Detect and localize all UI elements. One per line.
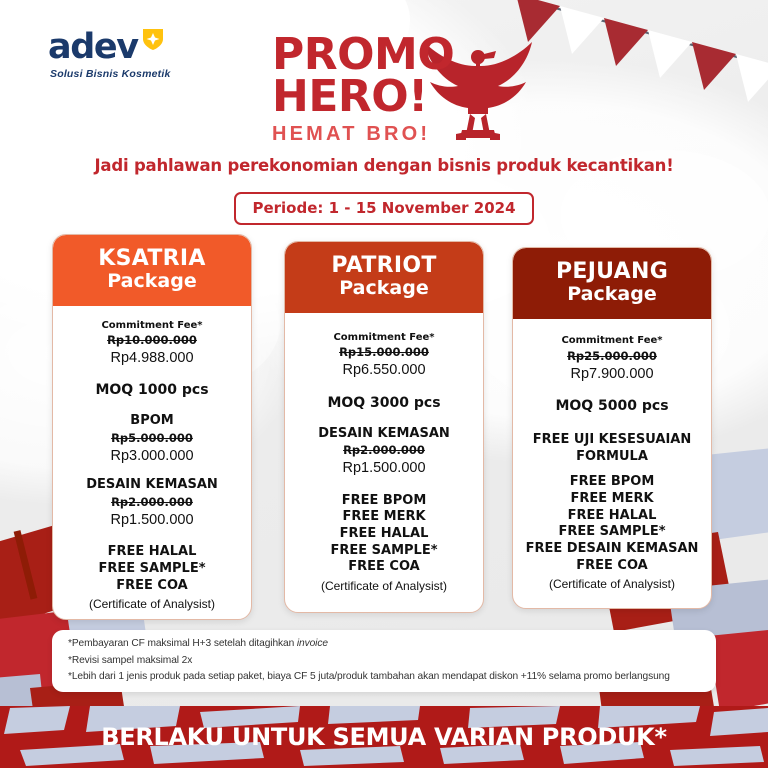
package-name: PEJUANG bbox=[521, 260, 703, 284]
free-headline-list: FREE UJI KESESUAIANFORMULA bbox=[533, 432, 692, 465]
moq-value: MOQ 5000 pcs bbox=[555, 398, 668, 414]
footnote-line: *Pembayaran CF maksimal H+3 setelah dita… bbox=[68, 636, 700, 653]
package-card-body: Commitment Fee*Rp10.000.000Rp4.988.000MO… bbox=[53, 306, 251, 620]
free-item: FREE COA bbox=[98, 578, 205, 595]
footnote-line: *Revisi sampel maksimal 2x bbox=[68, 653, 700, 670]
package-card-patriot: PATRIOTPackageCommitment Fee*Rp15.000.00… bbox=[284, 241, 484, 613]
package-item-old-price: Rp5.000.000 bbox=[63, 430, 241, 446]
free-item: FREE COA bbox=[330, 559, 437, 576]
commitment-fee-block: Commitment Fee*Rp10.000.000Rp4.988.000 bbox=[63, 319, 241, 369]
commitment-fee-label: Commitment Fee* bbox=[63, 319, 241, 333]
coa-note: (Certificate of Analysist) bbox=[321, 577, 447, 595]
free-items-list: FREE HALALFREE SAMPLE*FREE COA bbox=[98, 544, 205, 594]
package-word: Package bbox=[293, 278, 475, 300]
free-item: FREE SAMPLE* bbox=[98, 561, 205, 578]
package-word: Package bbox=[61, 271, 243, 293]
commitment-fee-old-price: Rp10.000.000 bbox=[63, 332, 241, 348]
commitment-fee-new-price: Rp7.900.000 bbox=[523, 364, 701, 384]
free-item: FREE BPOM bbox=[526, 474, 699, 491]
package-item-old-price: Rp2.000.000 bbox=[295, 442, 473, 458]
free-item: FREE SAMPLE* bbox=[330, 543, 437, 560]
commitment-fee-old-price: Rp15.000.000 bbox=[295, 344, 473, 360]
free-item: FREE MERK bbox=[526, 491, 699, 508]
package-card-body: Commitment Fee*Rp15.000.000Rp6.550.000MO… bbox=[285, 313, 483, 612]
commitment-fee-label: Commitment Fee* bbox=[295, 331, 473, 345]
package-item-label: BPOM bbox=[63, 412, 241, 430]
package-card-header: KSATRIAPackage bbox=[53, 235, 251, 306]
coa-note: (Certificate of Analysist) bbox=[549, 575, 675, 593]
commitment-fee-block: Commitment Fee*Rp25.000.000Rp7.900.000 bbox=[523, 334, 701, 384]
package-item-block: DESAIN KEMASANRp2.000.000Rp1.500.000 bbox=[295, 425, 473, 479]
package-name: KSATRIA bbox=[61, 247, 243, 271]
moq-value: MOQ 3000 pcs bbox=[327, 395, 440, 411]
free-item: FREE HALAL bbox=[526, 508, 699, 525]
footer-text: BERLAKU UNTUK SEMUA VARIAN PRODUK* bbox=[0, 706, 768, 768]
free-item: FREE BPOM bbox=[330, 493, 437, 510]
package-card-ksatria: KSATRIAPackageCommitment Fee*Rp10.000.00… bbox=[52, 234, 252, 620]
package-card-header: PATRIOTPackage bbox=[285, 242, 483, 313]
package-item-new-price: Rp1.500.000 bbox=[63, 510, 241, 530]
commitment-fee-new-price: Rp6.550.000 bbox=[295, 360, 473, 380]
package-card-header: PEJUANGPackage bbox=[513, 248, 711, 319]
footnotes-box: *Pembayaran CF maksimal H+3 setelah dita… bbox=[52, 630, 716, 692]
free-item: FREE SAMPLE* bbox=[526, 524, 699, 541]
free-item: FREE MERK bbox=[330, 509, 437, 526]
package-card-pejuang: PEJUANGPackageCommitment Fee*Rp25.000.00… bbox=[512, 247, 712, 609]
package-item-new-price: Rp3.000.000 bbox=[63, 446, 241, 466]
package-item-new-price: Rp1.500.000 bbox=[295, 458, 473, 478]
package-item-block: DESAIN KEMASANRp2.000.000Rp1.500.000 bbox=[63, 476, 241, 530]
commitment-fee-new-price: Rp4.988.000 bbox=[63, 348, 241, 368]
package-item-old-price: Rp2.000.000 bbox=[63, 494, 241, 510]
free-item: FREE COA bbox=[526, 558, 699, 575]
free-item: FREE HALAL bbox=[330, 526, 437, 543]
free-item: FREE DESAIN KEMASAN bbox=[526, 541, 699, 558]
free-item: FREE UJI KESESUAIAN bbox=[533, 432, 692, 449]
free-item: FREE HALAL bbox=[98, 544, 205, 561]
package-name: PATRIOT bbox=[293, 254, 475, 278]
package-item-block: BPOMRp5.000.000Rp3.000.000 bbox=[63, 412, 241, 466]
commitment-fee-label: Commitment Fee* bbox=[523, 334, 701, 348]
commitment-fee-old-price: Rp25.000.000 bbox=[523, 348, 701, 364]
coa-note: (Certificate of Analysist) bbox=[89, 595, 215, 613]
footer-banner: BERLAKU UNTUK SEMUA VARIAN PRODUK* bbox=[0, 706, 768, 768]
package-word: Package bbox=[521, 284, 703, 306]
commitment-fee-block: Commitment Fee*Rp15.000.000Rp6.550.000 bbox=[295, 331, 473, 381]
footnote-line: *Lebih dari 1 jenis produk pada setiap p… bbox=[68, 669, 700, 686]
package-item-label: DESAIN KEMASAN bbox=[63, 476, 241, 494]
moq-value: MOQ 1000 pcs bbox=[95, 382, 208, 398]
package-card-body: Commitment Fee*Rp25.000.000Rp7.900.000MO… bbox=[513, 319, 711, 608]
free-items-list: FREE BPOMFREE MERKFREE HALALFREE SAMPLE*… bbox=[526, 474, 699, 574]
package-item-label: DESAIN KEMASAN bbox=[295, 425, 473, 443]
free-items-list: FREE BPOMFREE MERKFREE HALALFREE SAMPLE*… bbox=[330, 493, 437, 576]
free-item: FORMULA bbox=[533, 449, 692, 466]
